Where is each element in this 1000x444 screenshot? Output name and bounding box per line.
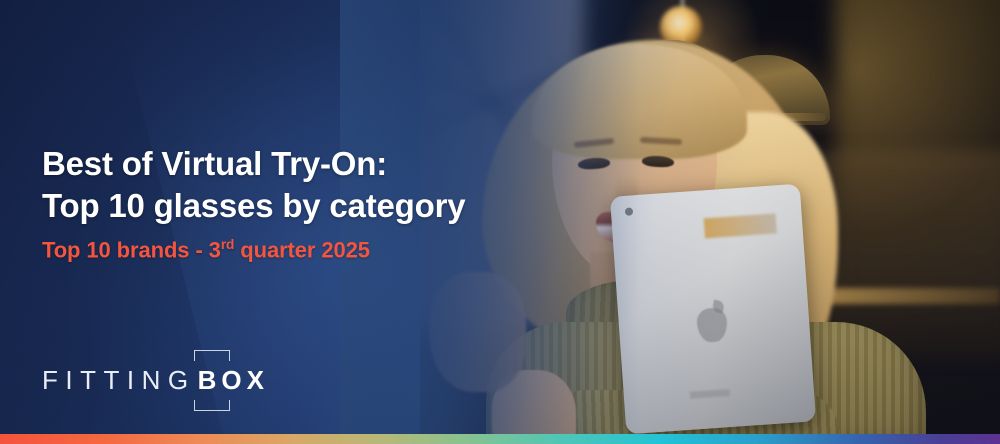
subheadline: Top 10 brands - 3rd quarter 2025: [42, 237, 512, 263]
bottom-gradient-bar: [0, 434, 1000, 444]
subheadline-ordinal: rd: [221, 237, 234, 252]
subheadline-prefix: Top 10 brands - 3: [42, 237, 221, 262]
subheadline-suffix: quarter 2025: [234, 237, 370, 262]
headline-line-2: Top 10 glasses by category: [42, 185, 512, 227]
promo-banner: OP Best of Virtual Try-On: Top 10 glasse…: [0, 0, 1000, 444]
logo-text-thin: FITTING: [42, 365, 196, 396]
headline-line-1: Best of Virtual Try-On:: [42, 145, 387, 182]
fittingbox-logo[interactable]: FITTING BOX: [42, 365, 271, 396]
logo-text-bold: BOX: [198, 365, 269, 395]
copy-block: Best of Virtual Try-On: Top 10 glasses b…: [42, 143, 512, 263]
logo-bracket-wrap: BOX: [196, 365, 271, 396]
logo-bracket-bottom-icon: [194, 400, 230, 411]
headline: Best of Virtual Try-On: Top 10 glasses b…: [42, 143, 512, 226]
logo-bracket-top-icon: [194, 350, 230, 361]
